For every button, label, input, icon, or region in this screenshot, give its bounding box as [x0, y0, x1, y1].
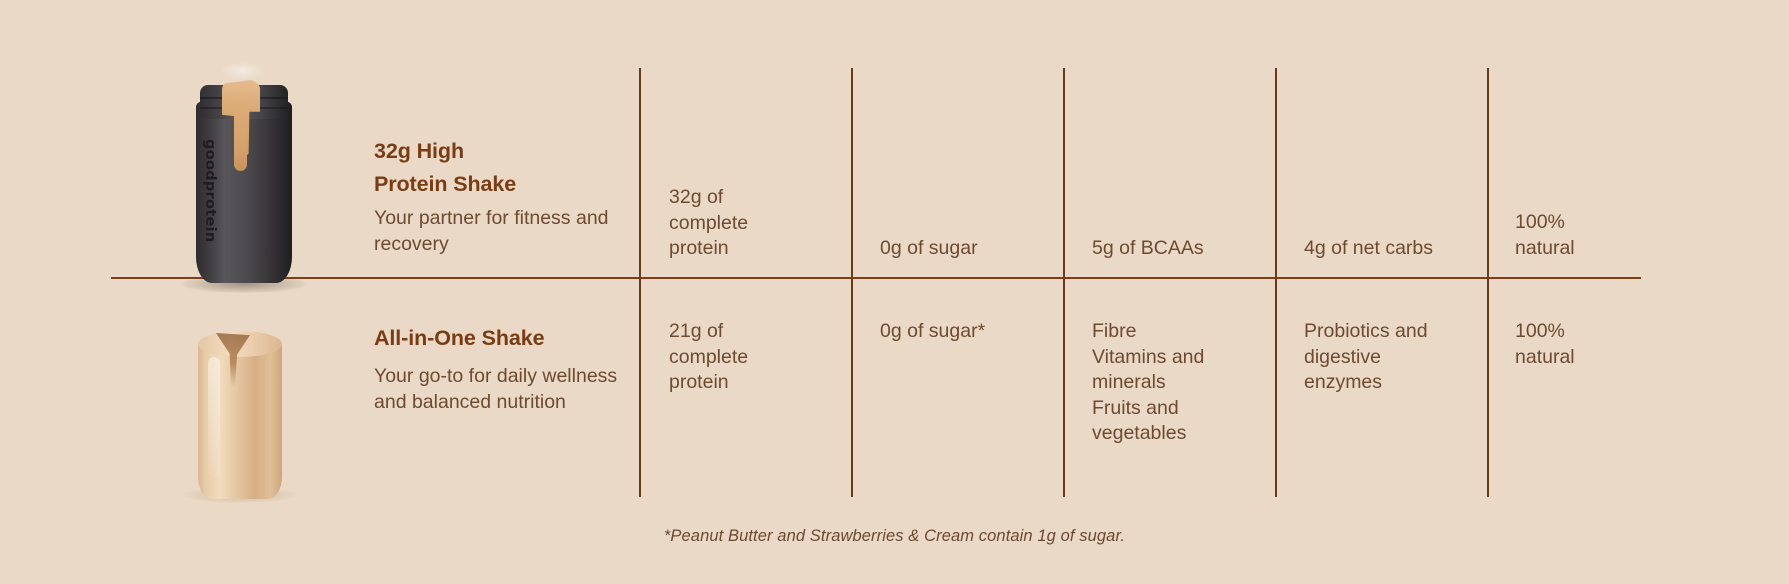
cell-protein-shake-extras: 5g of BCAAs [1092, 236, 1257, 262]
cell-all-in-one-natural: 100% natural [1515, 319, 1675, 370]
product-name-cell-protein-shake: 32g High Protein Shake Your partner for … [374, 135, 624, 257]
cell-all-in-one-protein: 21g of complete protein [669, 319, 834, 396]
product-comparison-table: goodprotein 32g High Protein Shake Your … [0, 0, 1789, 584]
product-subtitle: Your partner for fitness and recovery [374, 206, 624, 257]
cell-protein-shake-protein: 32g of complete protein [669, 185, 834, 262]
product-image-cell-protein-shake: goodprotein [150, 68, 380, 277]
product-subtitle: Your go-to for daily wellness and balanc… [374, 364, 624, 415]
cell-protein-shake-carbs: 4g of net carbs [1304, 236, 1469, 262]
product-title-line-2: Protein Shake [374, 168, 624, 201]
black-shaker-bottle-image: goodprotein [190, 77, 298, 287]
cell-protein-shake-natural: 100% natural [1515, 210, 1675, 261]
product-image-cell-all-in-one [150, 279, 380, 497]
table-row-all-in-one: All-in-One Shake Your go-to for daily we… [0, 279, 1789, 497]
product-name-cell-all-in-one: All-in-One Shake Your go-to for daily we… [374, 322, 624, 415]
protein-drip-stream [234, 103, 247, 171]
product-title-line-1: 32g High [374, 135, 624, 168]
product-title-line-1: All-in-One Shake [374, 322, 624, 355]
cell-all-in-one-sugar: 0g of sugar* [880, 319, 1045, 345]
cream-shake-glass-image [190, 327, 290, 499]
cell-protein-shake-sugar: 0g of sugar [880, 236, 1045, 262]
steam-wisp-icon [220, 61, 266, 81]
cell-all-in-one-extras: Fibre Vitamins and minerals Fruits and v… [1092, 319, 1257, 447]
bottle-brand-label: goodprotein [202, 139, 218, 243]
cell-all-in-one-carbs: Probiotics and digestive enzymes [1304, 319, 1469, 396]
glass-highlight [208, 357, 220, 477]
table-row-protein-shake: goodprotein 32g High Protein Shake Your … [0, 68, 1789, 277]
sugar-footnote: *Peanut Butter and Strawberries & Cream … [0, 527, 1789, 546]
